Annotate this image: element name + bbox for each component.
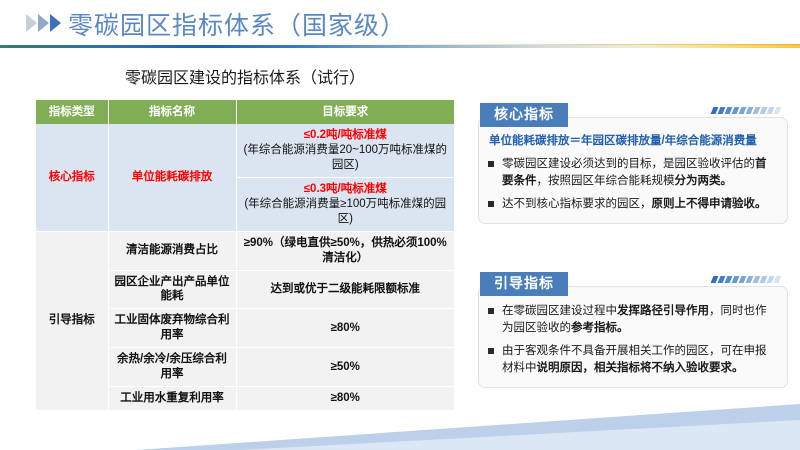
page-title: 零碳园区指标体系（国家级）	[68, 6, 406, 42]
bullet-text-emphasis: 参考指标。	[571, 322, 629, 334]
square-bullet-icon	[488, 161, 494, 167]
column-header-goal: 目标要求	[236, 100, 454, 124]
panel-guide-tag: 引导指标	[480, 272, 568, 296]
cell-goal-requirement: ≥50%	[236, 348, 454, 387]
table-row: 核心指标单位能耗碳排放≤0.2吨/吨标准煤(年综合能源消费量20~100万吨标准…	[36, 124, 454, 177]
indicator-table: 指标类型 指标名称 目标要求 核心指标单位能耗碳排放≤0.2吨/吨标准煤(年综合…	[36, 100, 454, 411]
header-divider-gradient	[0, 45, 800, 48]
square-bullet-icon	[488, 348, 494, 354]
bullet-text-emphasis: 分为两类。	[675, 175, 733, 187]
cell-indicator-name: 工业固体废弃物综合利用率	[108, 309, 236, 348]
square-bullet-icon	[488, 308, 494, 314]
panel-guide-card: 在零碳园区建设过程中发挥路径引导作用，同时也作为园区验收的参考指标。由于客观条件…	[478, 286, 788, 388]
table-subtitle: 零碳园区建设的指标体系（试行）	[35, 64, 455, 88]
cell-indicator-type: 引导指标	[36, 231, 108, 410]
dash-mark-icon	[774, 107, 782, 114]
guide-bullet-list: 在零碳园区建设过程中发挥路径引导作用，同时也作为园区验收的参考指标。由于客观条件…	[487, 303, 777, 377]
cell-indicator-name: 清洁能源消费占比	[108, 231, 236, 270]
column-header-name: 指标名称	[108, 100, 236, 124]
cell-goal-requirement: ≤0.2吨/吨标准煤(年综合能源消费量20~100万吨标准煤的园区)	[236, 124, 454, 177]
bullet-text-emphasis: 原则上不得申请验收。	[652, 198, 767, 210]
bullet-text: 零碳园区建设必须达到的目标，是园区验收评估的	[502, 158, 755, 170]
panel-core-card: 单位能耗碳排放＝年园区碳排放量/年综合能源消费量 零碳园区建设必须达到的目标，是…	[478, 117, 788, 224]
cell-indicator-name: 单位能耗碳排放	[108, 124, 236, 231]
cell-goal-requirement: ≥80%	[236, 309, 454, 348]
table-header-row: 指标类型 指标名称 目标要求	[36, 100, 454, 124]
cell-indicator-name: 工业用水重复利用率	[108, 387, 236, 411]
goal-main-value: ≤0.2吨/吨标准煤	[240, 128, 452, 143]
square-bullet-icon	[488, 201, 494, 207]
chevron-right-icon-1	[26, 14, 37, 32]
cell-goal-requirement: ≤0.3吨/吨标准煤(年综合能源消费量≥100万吨标准煤的园区)	[236, 177, 454, 231]
chevron-right-icon-3	[50, 14, 61, 32]
core-bullet-list: 零碳园区建设必须达到的目标，是园区验收评估的首要条件，按照园区年综合能耗规模分为…	[487, 156, 777, 213]
bullet-text: 达不到核心指标要求的园区，	[502, 198, 652, 210]
panel-core-tag: 核心指标	[480, 103, 568, 127]
goal-sub-note: (年综合能源消费量≥100万吨标准煤的园区)	[240, 197, 452, 227]
goal-main-value: ≤0.3吨/吨标准煤	[240, 182, 452, 197]
cell-goal-requirement: 达到或优于二级能耗限额标准	[236, 270, 454, 309]
bullet-item: 达不到核心指标要求的园区，原则上不得申请验收。	[487, 196, 777, 213]
double-chevron-right-icon	[26, 14, 61, 32]
cell-indicator-name: 园区企业产出产品单位能耗	[108, 270, 236, 309]
slide-header: 零碳园区指标体系（国家级）	[0, 0, 800, 48]
cell-goal-requirement: ≥90%（绿电直供≥50%，供热必须100%清洁化）	[236, 231, 454, 270]
table-row: 引导指标清洁能源消费占比≥90%（绿电直供≥50%，供热必须100%清洁化）	[36, 231, 454, 270]
goal-sub-note: (年综合能源消费量20~100万吨标准煤的园区)	[240, 143, 452, 173]
table-body: 核心指标单位能耗碳排放≤0.2吨/吨标准煤(年综合能源消费量20~100万吨标准…	[36, 124, 454, 411]
cell-indicator-name: 余热/余冷/余压综合利用率	[108, 348, 236, 387]
bullet-item: 由于客观条件不具备开展相关工作的园区，可在申报材料中说明原因，相关指标将不纳入验…	[487, 343, 777, 376]
chevron-right-icon-2	[38, 14, 49, 32]
bullet-item: 零碳园区建设必须达到的目标，是园区验收评估的首要条件，按照园区年综合能耗规模分为…	[487, 156, 777, 189]
bullet-text: 在零碳园区建设过程中	[502, 305, 617, 317]
column-header-type: 指标类型	[36, 100, 108, 124]
dash-mark-icon	[774, 276, 782, 283]
bullet-text-emphasis: 发挥路径引导作用	[617, 305, 709, 317]
dashes-decoration-icon-2	[712, 276, 780, 283]
bullet-text: ，按照园区年综合能耗规模	[537, 175, 675, 187]
bullet-item: 在零碳园区建设过程中发挥路径引导作用，同时也作为园区验收的参考指标。	[487, 303, 777, 336]
dashes-decoration-icon	[712, 107, 780, 114]
bullet-text-emphasis: 说明原因，相关指标将不纳入验收要求。	[537, 362, 744, 374]
cell-goal-requirement: ≥80%	[236, 387, 454, 411]
cell-indicator-type: 核心指标	[36, 124, 108, 231]
header-divider	[0, 44, 800, 49]
core-formula: 单位能耗碳排放＝年园区碳排放量/年综合能源消费量	[489, 134, 777, 149]
